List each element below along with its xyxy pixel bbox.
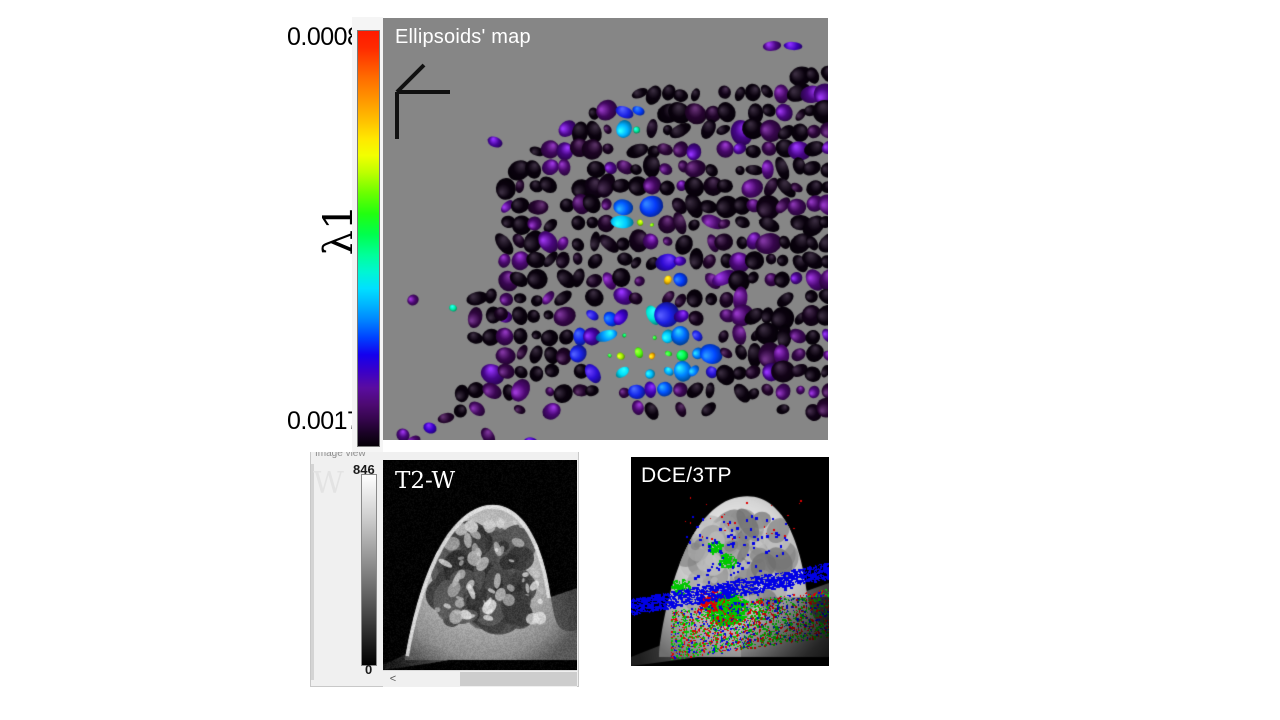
colorbar-track (352, 17, 383, 457)
dce3tp-image-canvas[interactable] (631, 457, 829, 666)
ellipsoids-map-panel[interactable]: Ellipsoids' map (383, 18, 828, 440)
grayscale-colorbar-min-label: 0 (365, 662, 372, 677)
colorbar-gradient (357, 30, 380, 447)
ellipsoids-map-title: Ellipsoids' map (395, 26, 531, 49)
grayscale-colorbar-gradient (361, 474, 377, 666)
colorbar-max-label: 0.0008 (287, 23, 360, 52)
background-window-header: Image view (315, 452, 455, 460)
dce3tp-image-panel[interactable]: DCE/3TP (631, 457, 829, 666)
t2w-image-panel[interactable]: T2-W (383, 460, 577, 670)
colorbar-min-label: 0.0017 (287, 407, 360, 436)
background-window-ghost-label: W (313, 466, 344, 501)
scrollbar-thumb[interactable] (460, 672, 577, 686)
t2w-horizontal-scrollbar[interactable]: < (383, 670, 577, 687)
axes-orientation-icon (388, 63, 458, 143)
scroll-left-arrow-icon[interactable]: < (386, 671, 400, 687)
dce3tp-title: DCE/3TP (641, 464, 732, 488)
grayscale-colorbar-group: 846 0 (359, 466, 383, 674)
t2w-title: T2-W (395, 468, 455, 494)
